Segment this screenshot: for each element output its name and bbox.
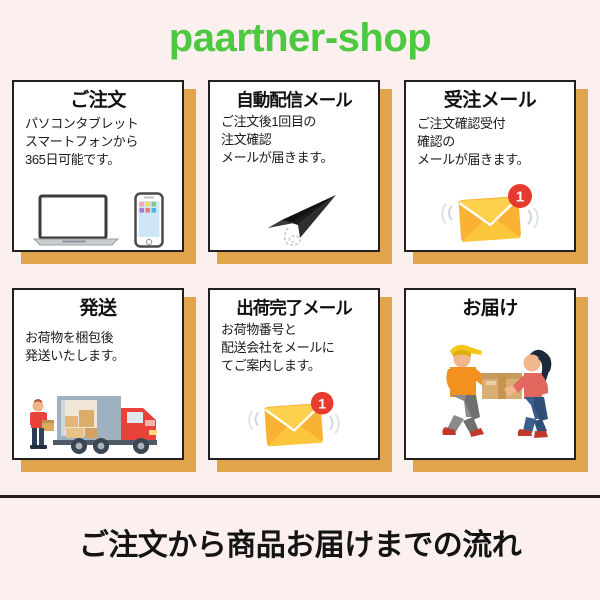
card-5-line-1: お荷物番号と <box>221 321 372 339</box>
step-card-1[interactable]: ご注文 パソコンタブレット スマートフォンから 365日可能です。 <box>12 80 196 264</box>
card-3-art: 1 <box>412 169 568 250</box>
card-2-body: 自動配信メール ご注文後1回目の 注文確認 メールが届きます。 <box>208 80 380 252</box>
card-1-text: パソコンタブレット スマートフォンから 365日可能です。 <box>20 115 176 169</box>
card-1-art <box>20 169 176 250</box>
card-5-title: 出荷完了メール <box>236 298 352 318</box>
delivery-truck-icon <box>23 390 173 456</box>
card-4-art <box>20 365 176 458</box>
card-2-line-1: ご注文後1回目の <box>221 113 372 131</box>
page-title: paartner-shop <box>0 16 600 60</box>
step-card-6[interactable]: お届け <box>404 288 588 472</box>
smartphone-icon <box>134 192 164 248</box>
card-3-title: 受注メール <box>444 90 537 112</box>
footer-title: ご注文から商品お届けまでの流れ <box>0 520 600 564</box>
envelope-group: 1 <box>242 390 346 456</box>
envelope-icon: 1 <box>242 390 346 452</box>
card-2-line-2: 注文確認 <box>221 131 372 149</box>
card-2-line-3: メールが届きます。 <box>221 149 372 167</box>
infographic-page: paartner-shop ご注文 パソコンタブレット スマートフォンから 36… <box>0 0 600 600</box>
card-5-art: 1 <box>216 375 372 458</box>
devices-group <box>32 192 164 248</box>
card-3-line-3: メールが届きます。 <box>417 151 568 169</box>
card-5-text: お荷物番号と 配送会社をメールに てご案内します。 <box>216 321 372 375</box>
card-3-text: ご注文確認受付 確認の メールが届きます。 <box>412 115 568 169</box>
step-card-3[interactable]: 受注メール ご注文確認受付 確認の メールが届きます。 <box>404 80 588 264</box>
footer-divider <box>0 495 600 498</box>
card-4-text: お荷物を梱包後 発送いたします。 <box>20 329 176 365</box>
paper-plane-icon <box>248 192 340 248</box>
card-2-text: ご注文後1回目の 注文確認 メールが届きます。 <box>216 113 372 167</box>
card-4-title: 発送 <box>79 298 116 320</box>
laptop-icon <box>32 194 120 248</box>
card-6-title: お届け <box>462 298 518 320</box>
card-1-line-1: パソコンタブレット <box>25 115 176 133</box>
envelope-icon: 1 <box>438 182 542 248</box>
badge-count: 1 <box>516 189 524 206</box>
card-1-line-3: 365日可能です。 <box>25 151 176 169</box>
card-5-line-2: 配送会社をメールに <box>221 339 372 357</box>
card-6-art <box>412 323 568 458</box>
envelope-group: 1 <box>438 182 542 248</box>
card-4-body: 発送 お荷物を梱包後 発送いたします。 <box>12 288 184 460</box>
card-4-line-2: 発送いたします。 <box>25 347 176 365</box>
step-card-5[interactable]: 出荷完了メール お荷物番号と 配送会社をメールに てご案内します。 <box>208 288 392 472</box>
card-5-line-3: てご案内します。 <box>221 357 372 375</box>
card-4-line-1: お荷物を梱包後 <box>25 329 176 347</box>
badge-count: 1 <box>318 395 326 411</box>
card-2-title: 自動配信メール <box>236 90 352 110</box>
card-1-line-2: スマートフォンから <box>25 133 176 151</box>
step-card-2[interactable]: 自動配信メール ご注文後1回目の 注文確認 メールが届きます。 <box>208 80 392 264</box>
step-card-4[interactable]: 発送 お荷物を梱包後 発送いたします。 <box>12 288 196 472</box>
card-5-body: 出荷完了メール お荷物番号と 配送会社をメールに てご案内します。 <box>208 288 380 460</box>
card-3-line-2: 確認の <box>417 133 568 151</box>
card-6-body: お届け <box>404 288 576 460</box>
card-2-art <box>216 167 372 250</box>
card-1-body: ご注文 パソコンタブレット スマートフォンから 365日可能です。 <box>12 80 184 252</box>
step-card-grid: ご注文 パソコンタブレット スマートフォンから 365日可能です。 <box>12 80 588 486</box>
card-3-body: 受注メール ご注文確認受付 確認の メールが届きます。 <box>404 80 576 252</box>
card-1-title: ご注文 <box>70 90 126 112</box>
card-3-line-1: ご注文確認受付 <box>417 115 568 133</box>
handover-package-icon <box>420 329 560 449</box>
